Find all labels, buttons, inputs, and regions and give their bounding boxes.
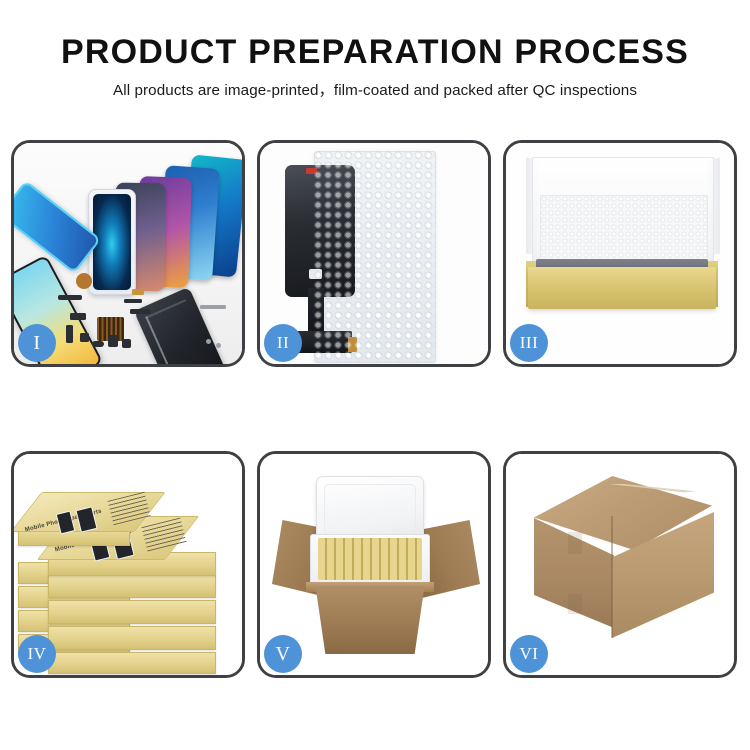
step-badge-3: III (510, 324, 548, 362)
process-steps-grid: I II (11, 140, 737, 678)
product-preparation-infographic: PRODUCT PREPARATION PROCESS All products… (0, 0, 750, 750)
battery-connector-part (108, 335, 118, 347)
step-badge-4: IV (18, 635, 56, 673)
step-panel-6: VI (503, 451, 737, 678)
screw-part (206, 339, 211, 344)
earpiece-part (122, 339, 131, 348)
step-badge-6: VI (510, 635, 548, 673)
gold-connector-part (132, 289, 144, 295)
screw-part (216, 343, 221, 348)
page-subtitle: All products are image-printed，film-coat… (0, 81, 750, 101)
antenna-strip-part (58, 295, 82, 300)
sim-tray-part (92, 341, 104, 347)
gold-tray-front (528, 267, 716, 309)
tweezers-tool (200, 305, 226, 309)
qc-red-sticker (306, 168, 317, 174)
carton-fold-mark (568, 532, 582, 554)
gold-boxes-inside (318, 538, 422, 580)
step-panel-3: III (503, 140, 737, 367)
step-badge-1: I (18, 324, 56, 362)
page-title: PRODUCT PREPARATION PROCESS (0, 32, 750, 72)
step-badge-2: II (264, 324, 302, 362)
step-badge-5: V (264, 635, 302, 673)
driver-ic (309, 269, 322, 279)
stacked-box (48, 652, 216, 674)
vibrator-part (66, 325, 73, 343)
camera-module-part (70, 313, 86, 320)
stacked-box (48, 626, 216, 650)
flex-cable-part (124, 299, 142, 303)
step-panel-5: V (257, 451, 491, 678)
carton-fold-mark (568, 594, 582, 614)
carton-front-wall (308, 586, 432, 654)
header: PRODUCT PREPARATION PROCESS All products… (0, 0, 750, 101)
speaker-coil-part (76, 273, 92, 289)
step-panel-4: Mobile Phone Spare Parts Mobile Phone Sp… (11, 451, 245, 678)
gold-flex-right (348, 337, 357, 352)
ic-chip-part (80, 333, 89, 342)
stacked-box (48, 600, 216, 624)
step-panel-1: I (11, 140, 245, 367)
step-panel-2: II (257, 140, 491, 367)
stacked-box (48, 574, 216, 598)
carton-vertical-seam (611, 516, 613, 638)
button-flex-part (130, 309, 150, 314)
